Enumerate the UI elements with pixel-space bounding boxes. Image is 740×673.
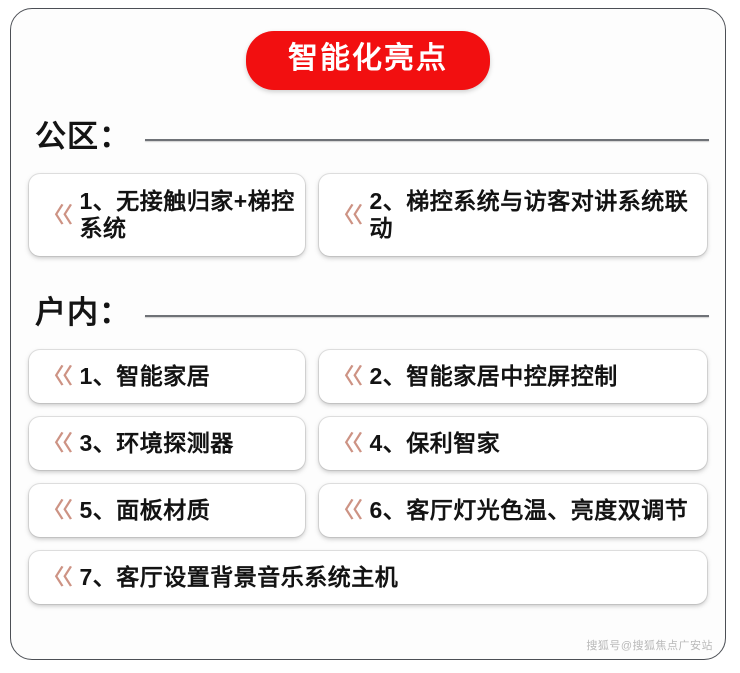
list-item-label: 6、客厅灯光色温、亮度双调节 xyxy=(370,497,689,524)
card-row: 〈〈 1、智能家居 〈〈 2、智能家居中控屏控制 xyxy=(11,350,725,403)
card-row: 〈〈 3、环境探测器 〈〈 4、保利智家 xyxy=(11,417,725,470)
list-item[interactable]: 〈〈 3、环境探测器 xyxy=(29,417,305,470)
card-row: 〈〈 7、客厅设置背景音乐系统主机 xyxy=(11,551,725,604)
double-chevron-left-icon: 〈〈 xyxy=(333,205,361,226)
section-title-public: 公区： xyxy=(35,121,131,152)
list-item[interactable]: 〈〈 6、客厅灯光色温、亮度双调节 xyxy=(319,484,707,537)
double-chevron-left-icon: 〈〈 xyxy=(43,567,71,588)
list-item[interactable]: 〈〈 1、无接触归家+梯控系统 xyxy=(29,174,305,256)
section-divider xyxy=(145,139,709,141)
list-item-label: 5、面板材质 xyxy=(80,497,211,524)
double-chevron-left-icon: 〈〈 xyxy=(43,366,71,387)
section-header-public: 公区： xyxy=(11,121,725,152)
watermark: 搜狐号@搜狐焦点广安站 xyxy=(586,637,713,653)
title-banner: 智能化亮点 xyxy=(11,31,725,90)
double-chevron-left-icon: 〈〈 xyxy=(333,433,361,454)
list-item[interactable]: 〈〈 4、保利智家 xyxy=(319,417,707,470)
section-title-indoor: 户内： xyxy=(35,297,131,328)
list-item[interactable]: 〈〈 7、客厅设置背景音乐系统主机 xyxy=(29,551,707,604)
double-chevron-left-icon: 〈〈 xyxy=(333,366,361,387)
double-chevron-left-icon: 〈〈 xyxy=(43,500,71,521)
double-chevron-left-icon: 〈〈 xyxy=(43,433,71,454)
list-item-label: 1、无接触归家+梯控系统 xyxy=(80,188,296,242)
list-item[interactable]: 〈〈 2、智能家居中控屏控制 xyxy=(319,350,707,403)
list-item-label: 3、环境探测器 xyxy=(80,430,234,457)
list-item-label: 7、客厅设置背景音乐系统主机 xyxy=(80,564,399,591)
list-item-label: 2、智能家居中控屏控制 xyxy=(370,363,618,390)
section-indoor: 户内： 〈〈 1、智能家居 〈〈 2、智能家居中控屏控制 〈〈 3、环境探测器 … xyxy=(11,297,725,604)
list-item[interactable]: 〈〈 2、梯控系统与访客对讲系统联动 xyxy=(319,174,707,256)
card-row: 〈〈 5、面板材质 〈〈 6、客厅灯光色温、亮度双调节 xyxy=(11,484,725,537)
list-item-label: 2、梯控系统与访客对讲系统联动 xyxy=(370,188,698,242)
list-item[interactable]: 〈〈 5、面板材质 xyxy=(29,484,305,537)
list-item-label: 1、智能家居 xyxy=(80,363,211,390)
double-chevron-left-icon: 〈〈 xyxy=(43,205,71,226)
list-item-label: 4、保利智家 xyxy=(370,430,501,457)
section-public-area: 公区： 〈〈 1、无接触归家+梯控系统 〈〈 2、梯控系统与访客对讲系统联动 xyxy=(11,121,725,256)
double-chevron-left-icon: 〈〈 xyxy=(333,500,361,521)
list-item[interactable]: 〈〈 1、智能家居 xyxy=(29,350,305,403)
content-card: 智能化亮点 公区： 〈〈 1、无接触归家+梯控系统 〈〈 2、梯控系统与访客对讲… xyxy=(10,8,726,660)
card-row: 〈〈 1、无接触归家+梯控系统 〈〈 2、梯控系统与访客对讲系统联动 xyxy=(11,174,725,256)
page-title: 智能化亮点 xyxy=(246,31,490,90)
section-divider xyxy=(145,315,709,317)
section-header-indoor: 户内： xyxy=(11,297,725,328)
